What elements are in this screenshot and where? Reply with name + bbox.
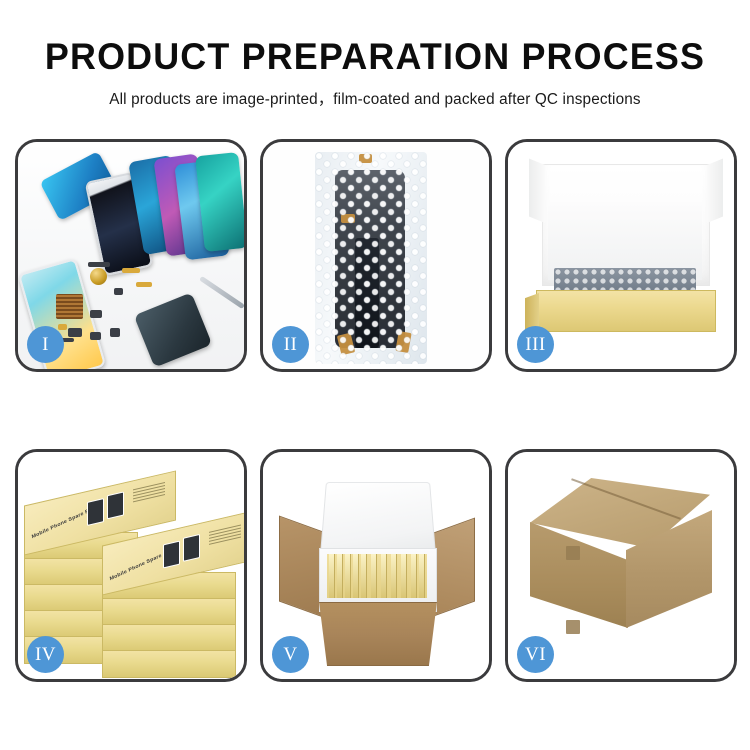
step-badge-1: I	[27, 326, 64, 363]
inner-boxes	[327, 554, 427, 598]
process-step-grid: I II III	[15, 139, 737, 682]
gold-coil-part	[90, 268, 107, 285]
bubble-bag	[315, 152, 427, 364]
step-badge-5: V	[272, 636, 309, 673]
stacked-box	[102, 598, 236, 626]
box-text-lines	[209, 524, 241, 546]
flex-cable-part	[122, 268, 140, 273]
step-badge-6: VI	[517, 636, 554, 673]
carton-tape	[566, 546, 580, 560]
yellow-box-base	[536, 290, 716, 332]
foam-lid	[320, 482, 437, 558]
flex-cable-part	[136, 282, 152, 287]
carton-tape	[566, 620, 580, 634]
small-part	[68, 328, 82, 337]
process-step-panel-2: II	[260, 139, 492, 372]
box-thumbnail	[183, 534, 200, 562]
page-header: PRODUCT PREPARATION PROCESS All products…	[0, 0, 750, 109]
step-badge-4: IV	[27, 636, 64, 673]
process-step-panel-3: III	[505, 139, 737, 372]
process-step-panel-4: Mobile Phone Spare Parts Mobile Phone Sp…	[15, 449, 247, 682]
page-subtitle: All products are image-printed，film-coat…	[0, 87, 750, 109]
step-badge-3: III	[517, 326, 554, 363]
small-part	[90, 332, 101, 340]
small-part	[88, 262, 110, 267]
box-thumbnail	[87, 498, 104, 526]
tweezers-tool	[199, 276, 244, 309]
small-part	[114, 288, 123, 295]
connector-grid-part	[56, 294, 83, 319]
box-thumbnail	[163, 541, 180, 569]
small-part	[110, 328, 120, 337]
small-part	[90, 310, 102, 318]
stacked-box	[102, 624, 236, 652]
bubble-texture	[315, 152, 427, 364]
box-text-lines	[133, 482, 165, 504]
process-step-panel-1: I	[15, 139, 247, 372]
stacked-box	[102, 650, 236, 678]
process-step-panel-6: VI	[505, 449, 737, 682]
page-title: PRODUCT PREPARATION PROCESS	[11, 38, 739, 77]
phone-back-housing	[134, 292, 212, 367]
carton-body	[311, 602, 445, 666]
box-thumbnail	[107, 491, 124, 519]
step-badge-2: II	[272, 326, 309, 363]
flex-cable-part	[58, 324, 67, 330]
process-step-panel-5: V	[260, 449, 492, 682]
